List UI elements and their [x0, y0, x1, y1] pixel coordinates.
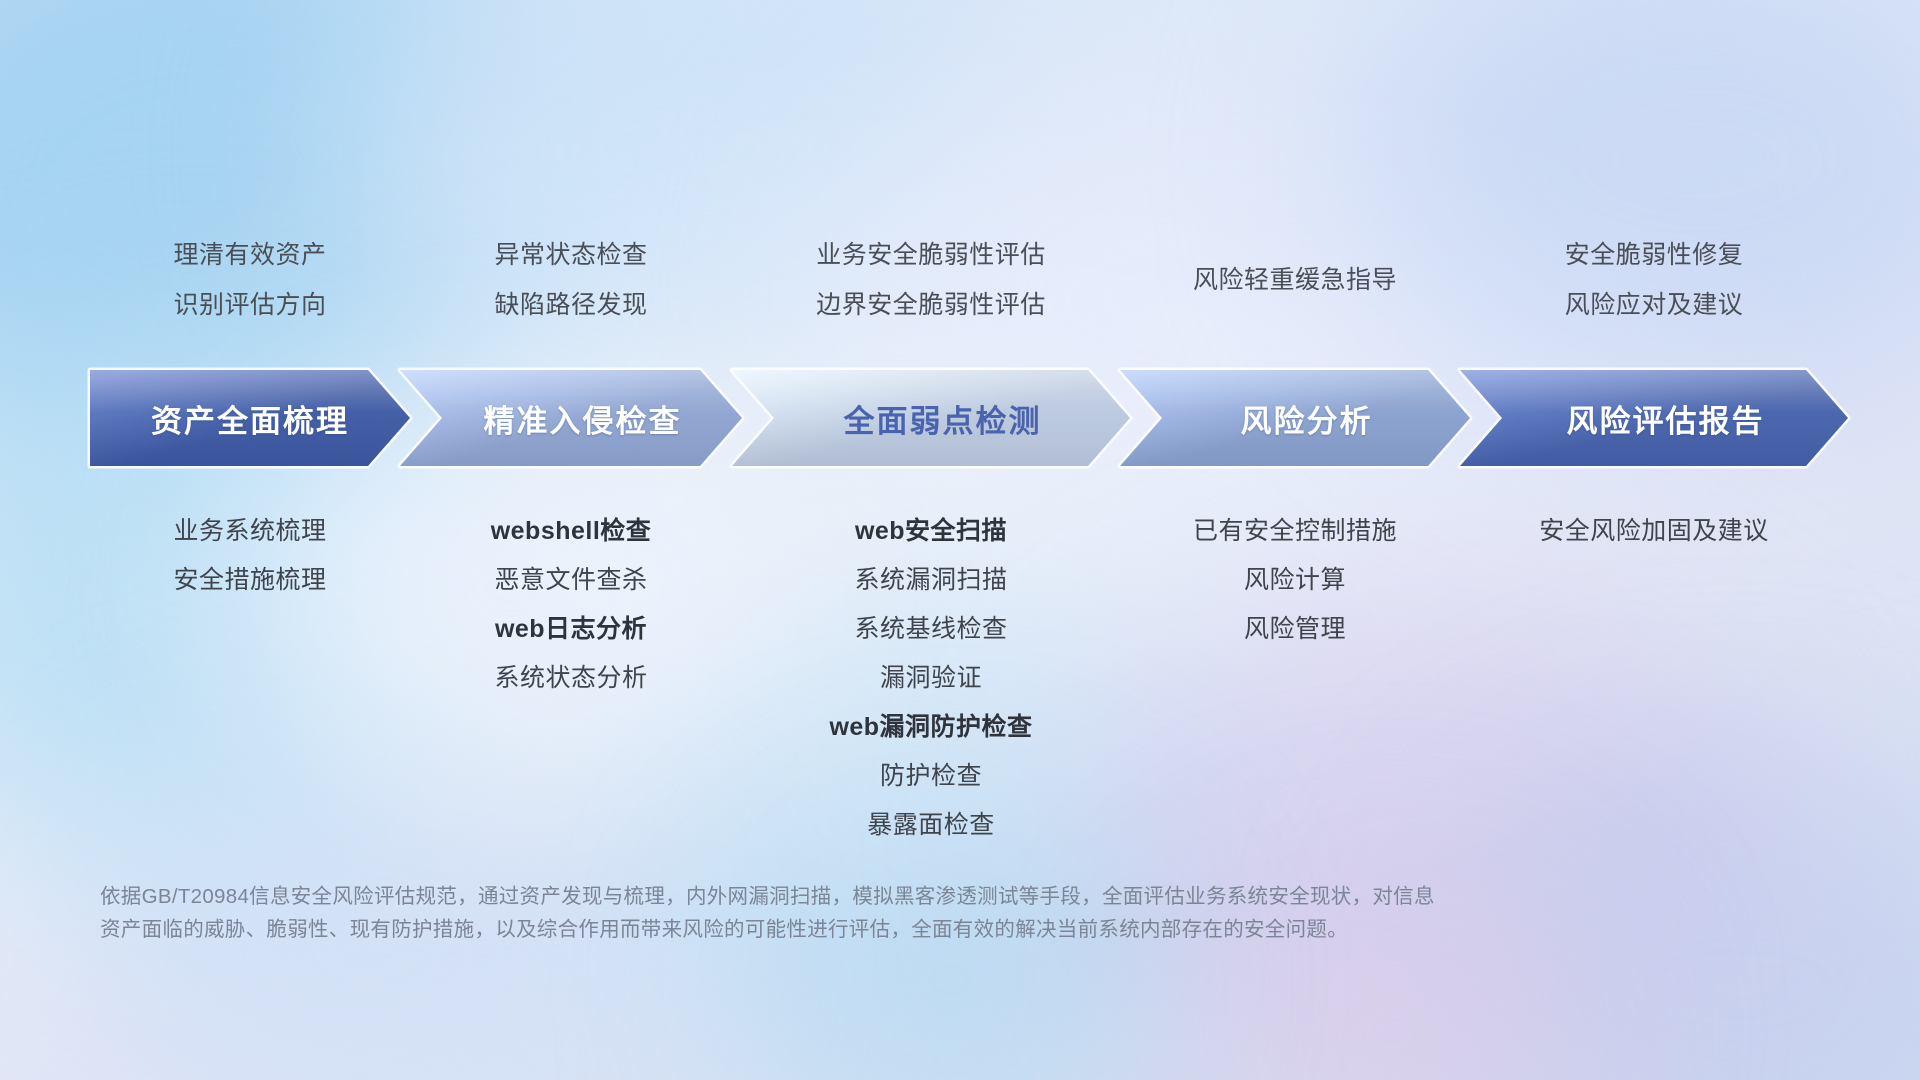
stage-bottom-item: 暴露面检查 — [701, 801, 1161, 850]
stage-arrow-weakness-detection[interactable]: 全面弱点检测 — [732, 370, 1130, 466]
footer-description: 依据GB/T20984信息安全风险评估规范，通过资产发现与梳理，内外网漏洞扫描，… — [100, 880, 1660, 946]
stage-bottom-item: web漏洞防护检查 — [701, 703, 1161, 752]
footer-line-2: 资产面临的威胁、脆弱性、现有防护措施，以及综合作用而带来风险的可能性进行评估，全… — [100, 913, 1660, 946]
stage-bottom-item: 漏洞验证 — [701, 654, 1161, 703]
stage-bottom-item: 风险管理 — [1065, 605, 1525, 654]
process-diagram: 理清有效资产识别评估方向 异常状态检查缺陷路径发现 业务安全脆弱性评估边界安全脆… — [0, 0, 1920, 1080]
stage-arrow-label: 全面弱点检测 — [732, 396, 1130, 441]
stage-arrow-band: 资产全面梳理 精准入侵检查 — [0, 370, 1920, 466]
stage-arrow-label: 风险评估报告 — [1460, 396, 1848, 441]
stage-top-labels-risk-report: 安全脆弱性修复风险应对及建议 — [1424, 230, 1884, 330]
stage-arrow-label: 风险分析 — [1120, 396, 1470, 441]
stage-arrow-risk-report[interactable]: 风险评估报告 — [1460, 370, 1848, 466]
stage-arrow-label: 精准入侵检查 — [400, 396, 742, 441]
stage-top-item: 风险应对及建议 — [1424, 280, 1884, 330]
stage-bottom-item: 安全风险加固及建议 — [1424, 507, 1884, 556]
stage-arrow-asset-inventory[interactable]: 资产全面梳理 — [90, 370, 410, 466]
stage-arrow-label: 资产全面梳理 — [90, 396, 410, 441]
stage-top-item: 安全脆弱性修复 — [1424, 230, 1884, 280]
stage-bottom-items-risk-report: 安全风险加固及建议 — [1424, 507, 1884, 556]
stage-bottom-item: 防护检查 — [701, 752, 1161, 801]
stage-arrow-intrusion-check[interactable]: 精准入侵检查 — [400, 370, 742, 466]
stage-arrow-risk-analysis[interactable]: 风险分析 — [1120, 370, 1470, 466]
stage-bottom-item: 风险计算 — [1065, 556, 1525, 605]
footer-line-1: 依据GB/T20984信息安全风险评估规范，通过资产发现与梳理，内外网漏洞扫描，… — [100, 880, 1660, 913]
